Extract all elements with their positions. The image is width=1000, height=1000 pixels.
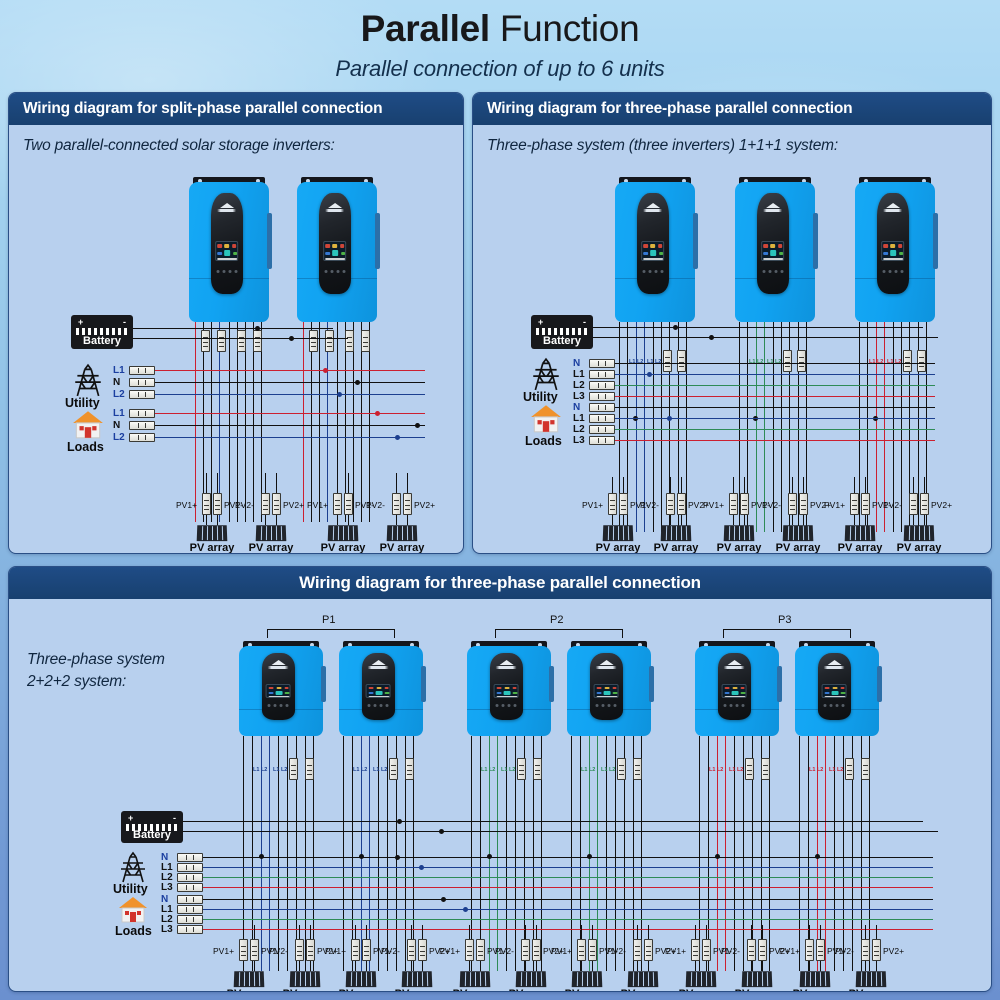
pv-breaker-right[interactable] [799, 493, 808, 515]
utility-l1-terminal[interactable] [177, 863, 203, 872]
logo-wordmark [883, 209, 903, 212]
pv-terminal-label-right: PV2+ [931, 501, 952, 510]
control-buttons[interactable] [268, 704, 289, 707]
control-button-2[interactable] [736, 704, 739, 707]
utility-l1-terminal[interactable] [589, 370, 615, 379]
utility-l2-terminal[interactable] [177, 873, 203, 882]
pv-breaker-right[interactable] [344, 493, 353, 515]
inverter-body [615, 182, 695, 322]
ac-breaker[interactable] [405, 758, 414, 780]
lcd-segment-0 [884, 244, 889, 248]
bus-line [353, 322, 354, 522]
utility-l1-terminal[interactable] [129, 366, 155, 375]
pv-breaker-right[interactable] [861, 493, 870, 515]
bus-line [261, 322, 262, 522]
pv-panel-icon-0 [197, 525, 227, 541]
loads-n-terminal[interactable] [589, 403, 615, 412]
utility-n-label: N [573, 359, 580, 369]
lcd-segment-6 [369, 696, 390, 697]
pv-panel-grid [800, 971, 831, 987]
inverter-side-fin [877, 666, 882, 702]
pv-lead-left [243, 961, 244, 971]
pv-breaker-right[interactable] [272, 493, 281, 515]
pv-breaker-right[interactable] [644, 939, 653, 961]
utility-n-terminal[interactable] [177, 853, 203, 862]
ac-breaker[interactable] [389, 758, 398, 780]
control-button-3[interactable] [842, 704, 845, 707]
pv-breaker-left[interactable] [333, 493, 342, 515]
pv-feed [820, 925, 821, 939]
inverter-side-fin [375, 213, 380, 269]
control-button-1[interactable] [888, 270, 891, 273]
utility-n-terminal[interactable] [589, 359, 615, 368]
lcd-segment-0 [369, 687, 374, 689]
inverter-unit-2[interactable] [467, 641, 551, 736]
pv-feed [913, 477, 914, 493]
pv-panel-grid [904, 525, 935, 541]
control-button-1[interactable] [274, 704, 277, 707]
pv-panel-icon-1 [290, 971, 320, 987]
pv-lead-left [612, 515, 613, 525]
pv-breaker-left[interactable] [261, 493, 270, 515]
control-button-0[interactable] [724, 704, 727, 707]
pv-lead-right [924, 515, 925, 525]
pv-breaker-left[interactable] [577, 939, 586, 961]
control-buttons[interactable] [824, 704, 845, 707]
control-button-1[interactable] [648, 270, 651, 273]
utility-l3-label: L3 [161, 883, 173, 893]
ac-breaker[interactable] [633, 758, 642, 780]
utility-wire [615, 385, 935, 386]
battery-minus-terminal: - [173, 814, 176, 823]
loads-wire [615, 429, 935, 430]
control-button-3[interactable] [342, 270, 345, 273]
ac-breaker[interactable] [861, 758, 870, 780]
loads-l1-terminal[interactable] [177, 905, 203, 914]
pv-terminal-label-left: PV1+ [439, 947, 460, 956]
lcd-segment-3 [276, 691, 283, 695]
ac-breaker[interactable] [345, 330, 354, 352]
inverter-faceplate [262, 653, 296, 720]
bus-line [303, 322, 304, 522]
pv-terminal-label-right: PV2+ [283, 501, 304, 510]
pv-lead-right [876, 961, 877, 971]
control-button-1[interactable] [374, 704, 377, 707]
ac-breaker[interactable] [903, 350, 912, 372]
control-button-2[interactable] [608, 704, 611, 707]
battery-plus-terminal: + [128, 814, 133, 823]
control-buttons[interactable] [642, 270, 663, 273]
pv-breaker-left[interactable] [521, 939, 530, 961]
pv-lead-right [254, 961, 255, 971]
pv-panel-grid [328, 525, 359, 541]
pv-panel-grid [572, 971, 603, 987]
loads-l3-terminal[interactable] [589, 436, 615, 445]
pv-feed [276, 473, 277, 493]
utility-wire [203, 857, 933, 858]
dc-breaker[interactable] [217, 330, 226, 352]
pv-feed [265, 473, 266, 493]
pv-breaker-left[interactable] [608, 493, 617, 515]
lcd-segment-5 [513, 692, 518, 694]
battery-label: Battery [531, 335, 593, 347]
logo-wordmark [596, 666, 617, 669]
pv-lead-right [706, 961, 707, 971]
utility-pylon-icon [117, 851, 149, 883]
loads-l2-terminal[interactable] [589, 425, 615, 434]
utility-l2-label: L2 [113, 390, 125, 400]
lcd-segment-0 [825, 687, 830, 689]
pv-terminal-label-left: PV2- [721, 947, 740, 956]
control-button-1[interactable] [222, 270, 225, 273]
logo-mark-icon [371, 660, 385, 665]
control-button-3[interactable] [386, 704, 389, 707]
loads-l1-terminal[interactable] [589, 414, 615, 423]
lcd-segment-4 [269, 692, 274, 694]
inverter-unit-2[interactable] [855, 177, 935, 322]
pv-array-caption: PV array [223, 989, 275, 992]
control-button-3[interactable] [234, 270, 237, 273]
control-button-0[interactable] [216, 270, 219, 273]
control-button-2[interactable] [280, 704, 283, 707]
pv-feed [706, 925, 707, 939]
pv-breaker-left[interactable] [729, 493, 738, 515]
lcd-segment-2 [340, 244, 344, 248]
pv-lead-right [865, 515, 866, 525]
loads-n-label: N [113, 421, 120, 431]
pv-breaker-left[interactable] [465, 939, 474, 961]
loads-wire [155, 437, 425, 438]
control-button-1[interactable] [730, 704, 733, 707]
control-buttons[interactable] [324, 270, 345, 273]
pv-feed [648, 925, 649, 939]
inverter-unit-0[interactable] [615, 177, 695, 322]
pv-panel-icon-5 [516, 971, 546, 987]
ac-breaker[interactable] [783, 350, 792, 372]
pv-lead-right [648, 961, 649, 971]
loads-l2-label: L2 [573, 425, 585, 435]
pv-breaker-left[interactable] [861, 939, 870, 961]
pv-breaker-right[interactable] [403, 493, 412, 515]
junction-dot [355, 380, 360, 385]
pv-feed [803, 477, 804, 493]
bus-line [245, 322, 246, 522]
lcd-segment-3 [890, 250, 897, 256]
inverter-body [855, 182, 935, 322]
control-button-0[interactable] [324, 270, 327, 273]
battery-icon: +-Battery [71, 315, 133, 349]
pv-feed [865, 925, 866, 939]
pv-panel-icon-3 [783, 525, 813, 541]
utility-l3-terminal[interactable] [177, 883, 203, 892]
utility-l3-terminal[interactable] [589, 392, 615, 401]
pv-breaker-left[interactable] [666, 493, 675, 515]
inv-phase-label: L1 L2 [481, 768, 495, 774]
inverter-faceplate [590, 653, 624, 720]
pv-breaker-right[interactable] [758, 939, 767, 961]
ac-breaker[interactable] [845, 758, 854, 780]
utility-wire [203, 867, 933, 868]
pv-breaker-right[interactable] [476, 939, 485, 961]
pv-breaker-right[interactable] [250, 939, 259, 961]
inverter-side-fin [421, 666, 426, 702]
control-button-3[interactable] [514, 704, 517, 707]
loads-wire [615, 418, 935, 419]
pv-feed [612, 477, 613, 493]
pv-lead-left [792, 515, 793, 525]
bus-line [781, 322, 782, 532]
dc-breaker[interactable] [201, 330, 210, 352]
utility-n-terminal[interactable] [129, 378, 155, 387]
inverter-body [297, 182, 377, 322]
pv-breaker-left[interactable] [239, 939, 248, 961]
pv-breaker-right[interactable] [872, 939, 881, 961]
inverter-unit-1[interactable] [297, 177, 377, 322]
phase-group-bracket-0 [267, 629, 395, 638]
battery-pos-wire [183, 821, 923, 822]
pv-breaker-right[interactable] [619, 493, 628, 515]
pv-lead-left [865, 961, 866, 971]
loads-n-terminal[interactable] [177, 895, 203, 904]
pv-breaker-right[interactable] [677, 493, 686, 515]
ac-breaker[interactable] [797, 350, 806, 372]
control-buttons[interactable] [368, 704, 389, 707]
bus-line [597, 736, 598, 971]
bus-line [799, 736, 800, 971]
pv-breaker-left[interactable] [202, 493, 211, 515]
control-buttons[interactable] [496, 704, 517, 707]
inverter-unit-5[interactable] [795, 641, 879, 736]
pv-lead-right [536, 961, 537, 971]
control-button-1[interactable] [330, 270, 333, 273]
ac-breaker[interactable] [745, 758, 754, 780]
inverter-unit-0[interactable] [189, 177, 269, 322]
ac-breaker[interactable] [361, 330, 370, 352]
inv-phase-label: L1 L2 [601, 768, 615, 774]
pv-breaker-right[interactable] [740, 493, 749, 515]
inverter-side-fin [693, 213, 698, 269]
pv-panel-icon-11 [856, 971, 886, 987]
utility-wire [615, 363, 935, 364]
pv-breaker-left[interactable] [850, 493, 859, 515]
lcd-display [594, 684, 619, 697]
brand-logo [368, 660, 389, 669]
pv-feed [751, 925, 752, 939]
control-button-3[interactable] [660, 270, 663, 273]
pv-panel-grid [387, 525, 418, 541]
ac-breaker[interactable] [253, 330, 262, 352]
pv-breaker-right[interactable] [418, 939, 427, 961]
bus-line [361, 322, 362, 522]
pv-lead-right [276, 515, 277, 525]
pv-feed [592, 925, 593, 939]
lcd-segment-1 [651, 244, 656, 248]
pv-breaker-left[interactable] [407, 939, 416, 961]
battery-icon: +-Battery [531, 315, 593, 349]
ac-breaker[interactable] [663, 350, 672, 372]
control-button-1[interactable] [602, 704, 605, 707]
junction-dot [375, 411, 380, 416]
loads-l1-terminal[interactable] [129, 409, 155, 418]
pv-breaker-right[interactable] [920, 493, 929, 515]
ac-breaker[interactable] [289, 758, 298, 780]
pv-breaker-right[interactable] [362, 939, 371, 961]
pv-terminal-label-right: PV2+ [883, 947, 904, 956]
ac-breaker[interactable] [237, 330, 246, 352]
control-button-3[interactable] [780, 270, 783, 273]
ac-breaker[interactable] [761, 758, 770, 780]
inverter-faceplate [637, 193, 669, 295]
utility-wire [203, 887, 933, 888]
control-button-1[interactable] [502, 704, 505, 707]
pv-array-caption: PV array [317, 543, 369, 554]
lcd-segment-1 [276, 687, 281, 689]
utility-pylon-icon [71, 363, 105, 397]
utility-l2-terminal[interactable] [129, 390, 155, 399]
dc-breaker[interactable] [325, 330, 334, 352]
pv-breaker-right[interactable] [588, 939, 597, 961]
lcd-segment-4 [884, 252, 889, 256]
inverter-unit-3[interactable] [567, 641, 651, 736]
inverter-faceplate [362, 653, 396, 720]
control-button-0[interactable] [368, 704, 371, 707]
control-button-3[interactable] [614, 704, 617, 707]
control-buttons[interactable] [882, 270, 903, 273]
control-button-3[interactable] [900, 270, 903, 273]
pv-feed [733, 477, 734, 493]
control-button-2[interactable] [336, 270, 339, 273]
inverter-side-fin [549, 666, 554, 702]
pv-breaker-left[interactable] [788, 493, 797, 515]
page-subtitle: Parallel connection of up to 6 units [0, 47, 1000, 82]
pv-panel-grid [856, 971, 887, 987]
pv-lead-left [670, 515, 671, 525]
pv-panel-grid [603, 525, 634, 541]
lcd-segment-5 [233, 252, 238, 256]
lcd-segment-1 [771, 244, 776, 248]
dc-breaker[interactable] [309, 330, 318, 352]
control-button-0[interactable] [824, 704, 827, 707]
pv-feed [670, 477, 671, 493]
control-button-2[interactable] [774, 270, 777, 273]
lcd-segment-1 [832, 687, 837, 689]
junction-dot [419, 865, 424, 870]
inverter-unit-0[interactable] [239, 641, 323, 736]
control-button-1[interactable] [830, 704, 833, 707]
pv-panel-grid [742, 971, 773, 987]
battery-pos-wire [593, 327, 923, 328]
control-buttons[interactable] [596, 704, 617, 707]
ac-breaker[interactable] [517, 758, 526, 780]
ac-breaker[interactable] [917, 350, 926, 372]
pv-panel-icon-1 [256, 525, 286, 541]
lcd-segment-2 [232, 244, 236, 248]
inverter-unit-4[interactable] [695, 641, 779, 736]
pv-breaker-left[interactable] [691, 939, 700, 961]
brand-logo [325, 203, 345, 212]
control-button-2[interactable] [894, 270, 897, 273]
ac-breaker[interactable] [677, 350, 686, 372]
pv-breaker-right[interactable] [702, 939, 711, 961]
pv-terminal-label-left: PV2- [835, 947, 854, 956]
lcd-display [881, 241, 905, 261]
control-button-1[interactable] [768, 270, 771, 273]
control-button-3[interactable] [286, 704, 289, 707]
control-button-0[interactable] [496, 704, 499, 707]
ac-breaker[interactable] [305, 758, 314, 780]
pv-panel-grid [346, 971, 377, 987]
loads-l2-label: L2 [113, 433, 125, 443]
battery-cells [536, 328, 588, 335]
utility-wire [155, 370, 425, 371]
ac-breaker[interactable] [617, 758, 626, 780]
control-button-0[interactable] [882, 270, 885, 273]
control-buttons[interactable] [762, 270, 783, 273]
inverter-unit-1[interactable] [735, 177, 815, 322]
control-button-0[interactable] [268, 704, 271, 707]
control-button-2[interactable] [836, 704, 839, 707]
control-buttons[interactable] [216, 270, 237, 273]
loads-l2-terminal[interactable] [129, 433, 155, 442]
inverter-side-fin [321, 666, 326, 702]
control-button-0[interactable] [596, 704, 599, 707]
pv-breaker-left[interactable] [805, 939, 814, 961]
pv-breaker-left[interactable] [295, 939, 304, 961]
pv-panel-icon-5 [904, 525, 934, 541]
pv-breaker-right[interactable] [816, 939, 825, 961]
loads-n-terminal[interactable] [129, 421, 155, 430]
inverter-unit-1[interactable] [339, 641, 423, 736]
utility-l1-label: L1 [113, 366, 125, 376]
control-button-2[interactable] [380, 704, 383, 707]
pv-breaker-left[interactable] [747, 939, 756, 961]
pv-terminal-label-left: PV2- [366, 501, 385, 510]
control-buttons[interactable] [724, 704, 745, 707]
pv-feed [865, 477, 866, 493]
battery-icon: +-Battery [121, 811, 183, 843]
ac-breaker[interactable] [533, 758, 542, 780]
loads-l3-terminal[interactable] [177, 925, 203, 934]
pv-breaker-right[interactable] [213, 493, 222, 515]
pv-breaker-left[interactable] [909, 493, 918, 515]
pv-breaker-right[interactable] [532, 939, 541, 961]
pv-panel-icon-4 [460, 971, 490, 987]
pv-array-caption: PV array [561, 989, 613, 992]
control-button-2[interactable] [228, 270, 231, 273]
utility-l2-terminal[interactable] [589, 381, 615, 390]
pv-lead-left [206, 515, 207, 525]
battery-minus-terminal: - [583, 318, 586, 327]
pv-breaker-left[interactable] [351, 939, 360, 961]
control-button-3[interactable] [742, 704, 745, 707]
loads-wire [615, 440, 935, 441]
control-button-2[interactable] [654, 270, 657, 273]
control-button-0[interactable] [642, 270, 645, 273]
pv-breaker-left[interactable] [633, 939, 642, 961]
bus-line [319, 322, 320, 522]
pv-breaker-left[interactable] [392, 493, 401, 515]
control-button-2[interactable] [508, 704, 511, 707]
utility-pylon-icon [529, 357, 563, 391]
logo-wordmark [368, 666, 389, 669]
loads-l2-terminal[interactable] [177, 915, 203, 924]
control-button-0[interactable] [762, 270, 765, 273]
junction-dot [709, 335, 714, 340]
pv-breaker-right[interactable] [306, 939, 315, 961]
inverter-faceplate [757, 193, 789, 295]
logo-wordmark [724, 666, 745, 669]
lcd-segment-4 [644, 252, 649, 256]
